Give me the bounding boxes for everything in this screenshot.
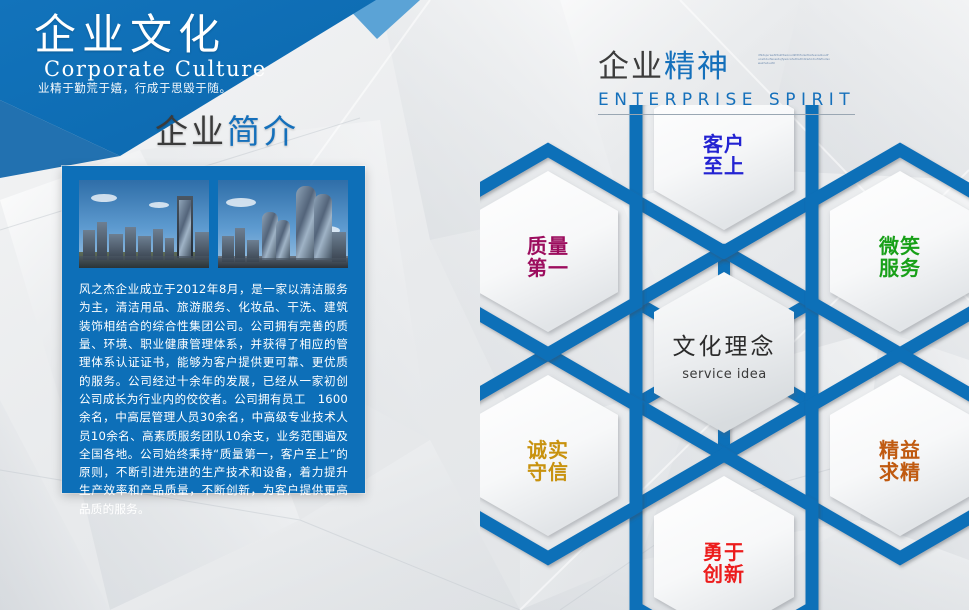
company-intro-card: 风之杰企业成立于2012年8月，是一家以清洁服务为主，清洁用品、旅游服务、化妆品… (62, 166, 365, 493)
hex-excellence[interactable] (812, 354, 969, 558)
spirit-cn-blue: 精神 (664, 49, 730, 85)
skyscraper-photo (218, 180, 348, 268)
hex-center-cn-label: 文化理念 (480, 327, 969, 361)
city-skyline-photo (79, 180, 209, 268)
intro-heading-blue: 简介 (227, 112, 299, 151)
corporate-culture-cn-title: 企业文化 (34, 12, 226, 58)
spirit-underline (598, 114, 855, 115)
decorative-micro-text: dfkdsjurwehfdskfdwonudkfdhfuiwrtksfuenad… (758, 54, 830, 66)
hex-smile-service[interactable] (812, 150, 969, 354)
spirit-en-title: ENTERPRISE SPIRIT (598, 90, 855, 110)
photo-row (62, 166, 365, 268)
intro-heading-dark: 企业 (155, 112, 227, 151)
hex-integrity[interactable] (480, 354, 636, 558)
hex-quality-first[interactable] (480, 150, 636, 354)
company-intro-heading: 企业简介 (155, 115, 299, 148)
corporate-culture-tagline: 业精于勤荒于嬉，行成于思毁于随。 (38, 80, 232, 96)
company-intro-body: 风之杰企业成立于2012年8月，是一家以清洁服务为主，清洁用品、旅游服务、化妆品… (62, 268, 365, 532)
hex-innovation[interactable] (636, 455, 812, 610)
culture-hexagon-diagram: 客户 至上 微笑 服务 精益 求精 勇于 创新 诚实 守信 质量 第一 文化理念… (480, 105, 969, 610)
enterprise-spirit-heading: 企业精神 ENTERPRISE SPIRIT dfkdsjurwehfdskfd… (598, 52, 855, 115)
spirit-cn-dark: 企业 (598, 49, 664, 85)
hex-customer-first[interactable] (636, 105, 812, 252)
hex-center-en-label: service idea (480, 367, 969, 382)
corporate-culture-en-title: Corporate Culture (44, 57, 267, 81)
